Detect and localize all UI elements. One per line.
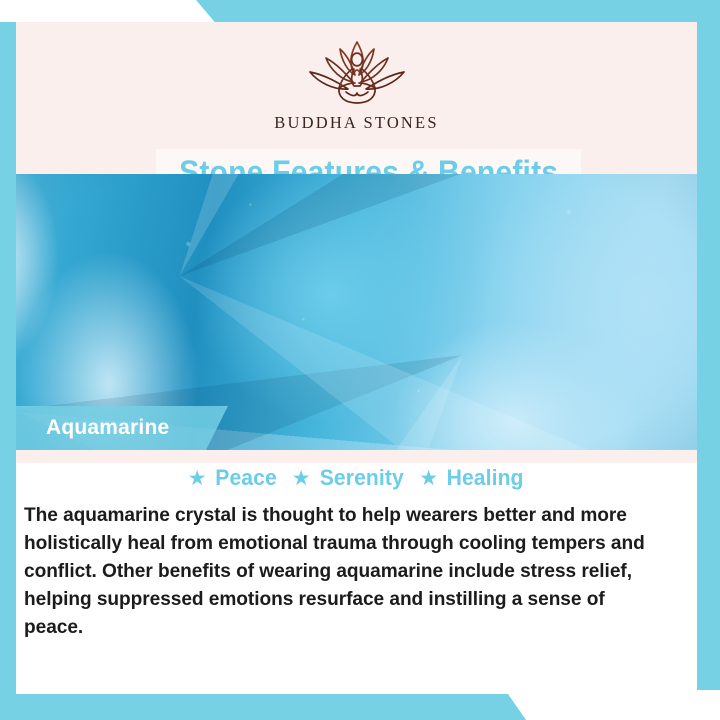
benefit-item-healing: ★ Healing	[419, 465, 525, 491]
stone-name-banner: Aquamarine	[16, 406, 228, 450]
star-icon: ★	[292, 468, 311, 489]
header-panel: BUDDHA STONES Stone Features & Benefits	[16, 22, 697, 174]
description-paragraph: The aquamarine crystal is thought to hel…	[24, 501, 666, 641]
star-icon: ★	[419, 468, 438, 489]
star-icon: ★	[188, 468, 207, 489]
stone-name: Aquamarine	[46, 416, 169, 440]
right-cyan-band	[697, 0, 720, 690]
benefits-row: ★ Peace ★ Serenity ★ Healing	[16, 465, 697, 491]
benefit-item-serenity: ★ Serenity	[292, 465, 405, 491]
benefit-label: Peace	[215, 465, 277, 491]
brand-logo: BUDDHA STONES	[16, 36, 697, 133]
cream-divider-strip	[16, 450, 697, 463]
brand-name: BUDDHA STONES	[274, 113, 438, 133]
left-cyan-band	[0, 22, 16, 698]
benefit-label: Serenity	[319, 465, 403, 491]
stone-features-infographic: BUDDHA STONES Stone Features & Benefits …	[0, 0, 720, 720]
benefit-label: Healing	[447, 465, 524, 491]
benefit-item-peace: ★ Peace	[188, 465, 278, 491]
bottom-cyan-band	[0, 694, 720, 720]
lotus-meditation-logo-icon	[282, 36, 432, 111]
body-panel: ★ Peace ★ Serenity ★ Healing The aquamar…	[16, 463, 697, 694]
